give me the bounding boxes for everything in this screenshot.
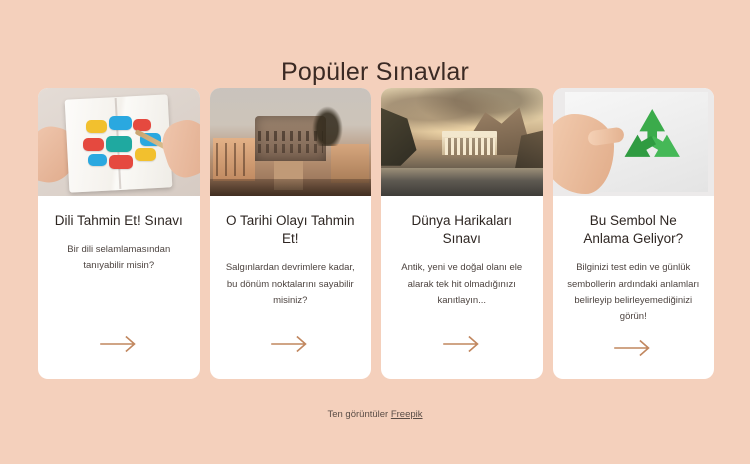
popular-quizzes-page: Popüler Sınavlar Dili Tahmin E (0, 0, 750, 464)
water-shape (381, 168, 543, 196)
quiz-card-cta[interactable] (395, 321, 529, 365)
quiz-card-title: Dünya Harikaları Sınavı (395, 212, 529, 248)
quiz-card-body: Dili Tahmin Et! Sınavı Bir dili selamlam… (38, 196, 200, 379)
quiz-card-body: O Tarihi Olayı Tahmin Et! Salgınlardan d… (210, 196, 372, 379)
image-credit: Ten görüntüler Freepik (0, 409, 750, 420)
foreground-ruins-shape (210, 179, 372, 196)
quiz-card-title: Dili Tahmin Et! Sınavı (52, 212, 186, 230)
quiz-card-description: Bilginizi test edin ve günlük sembolleri… (567, 260, 701, 325)
greek-temple-shape (442, 136, 497, 155)
quiz-card-body: Dünya Harikaları Sınavı Antik, yeni ve d… (381, 196, 543, 379)
quiz-card-title: Bu Sembol Ne Anlama Geliyor? (567, 212, 701, 248)
quiz-card-body: Bu Sembol Ne Anlama Geliyor? Bilginizi t… (553, 196, 715, 379)
quiz-card-description: Salgınlardan devrimlere kadar, bu dönüm … (224, 260, 358, 308)
speech-bubble-icon (86, 120, 107, 133)
arrow-right-icon[interactable] (613, 339, 653, 357)
speech-bubble-icon (135, 148, 156, 161)
hand-holding-recycling-symbol-image (553, 88, 715, 196)
roman-colosseum-forum-image (210, 88, 372, 196)
quiz-card-description: Antik, yeni ve doğal olanı ele alarak te… (395, 260, 529, 308)
page-title: Popüler Sınavlar (0, 57, 750, 87)
quiz-card-cta[interactable] (567, 325, 701, 369)
speech-bubble-icon (109, 116, 132, 130)
speech-bubble-icon (109, 155, 133, 169)
quiz-card[interactable]: Dünya Harikaları Sınavı Antik, yeni ve d… (381, 88, 543, 379)
arrow-right-icon[interactable] (442, 335, 482, 353)
arrow-right-icon[interactable] (99, 335, 139, 353)
quiz-card-cta[interactable] (224, 321, 358, 365)
quiz-card-title: O Tarihi Olayı Tahmin Et! (224, 212, 358, 248)
quiz-card-grid: Dili Tahmin Et! Sınavı Bir dili selamlam… (38, 88, 714, 379)
speech-bubble-icon (106, 136, 132, 152)
ancient-greek-temple-landscape-image (381, 88, 543, 196)
building-right-shape (331, 144, 370, 183)
speech-bubble-icon (88, 154, 107, 166)
quiz-card[interactable]: O Tarihi Olayı Tahmin Et! Salgınlardan d… (210, 88, 372, 379)
speech-bubble-icon (83, 138, 104, 151)
quiz-card[interactable]: Dili Tahmin Et! Sınavı Bir dili selamlam… (38, 88, 200, 379)
arrow-right-icon[interactable] (270, 335, 310, 353)
freepik-link[interactable]: Freepik (391, 409, 423, 420)
pine-tree-shape (310, 103, 346, 146)
quiz-card-cta[interactable] (52, 321, 186, 365)
image-credit-text: Ten görüntüler (327, 409, 388, 420)
building-left-shape (213, 138, 255, 181)
quiz-card-description: Bir dili selamlamasından tanıyabilir mis… (52, 242, 186, 274)
hands-notebook-speech-bubbles-image (38, 88, 200, 196)
quiz-card[interactable]: Bu Sembol Ne Anlama Geliyor? Bilginizi t… (553, 88, 715, 379)
